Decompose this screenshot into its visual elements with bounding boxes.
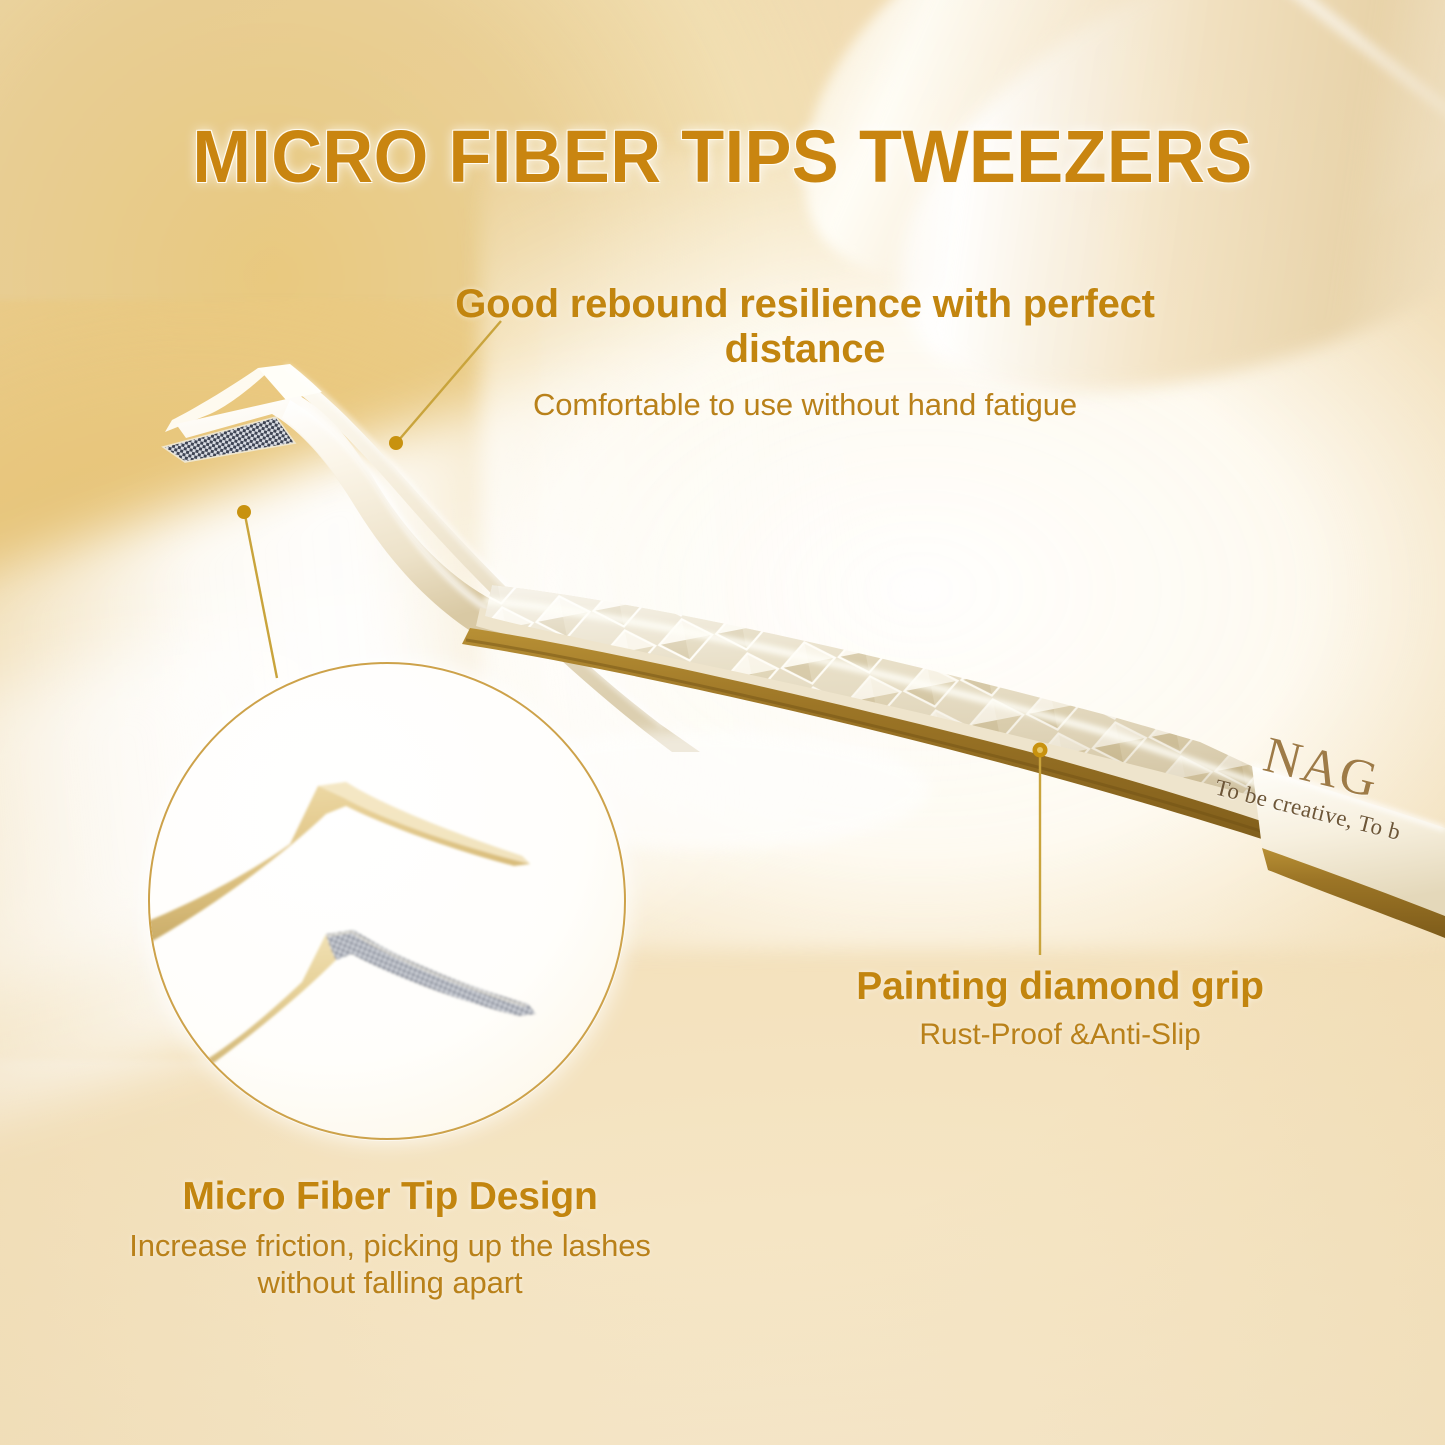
callout-grip-subtext: Rust-Proof &Anti-Slip bbox=[770, 1017, 1350, 1054]
callout-grip-heading: Painting diamond grip bbox=[770, 965, 1350, 1009]
magnifier-circle-icon bbox=[148, 662, 626, 1140]
page-title: MICRO FIBER TIPS TWEEZERS bbox=[36, 114, 1409, 199]
infographic-canvas: NAG To be creative, To b MICRO FIBER TIP… bbox=[0, 0, 1445, 1445]
callout-fiber-heading: Micro Fiber Tip Design bbox=[60, 1175, 720, 1219]
callout-rebound-subtext: Comfortable to use without hand fatigue bbox=[455, 386, 1155, 424]
callout-fiber-subtext-line2: without falling apart bbox=[60, 1264, 720, 1302]
callout-micro-fiber-tip: Micro Fiber Tip Design Increase friction… bbox=[60, 1175, 720, 1302]
callout-rebound-heading: Good rebound resilience with perfect dis… bbox=[455, 282, 1155, 372]
tweezer-tip-icon bbox=[150, 782, 530, 948]
callout-diamond-grip: Painting diamond grip Rust-Proof &Anti-S… bbox=[770, 965, 1350, 1053]
callout-rebound: Good rebound resilience with perfect dis… bbox=[455, 282, 1155, 423]
callout-fiber-subtext-line1: Increase friction, picking up the lashes bbox=[60, 1227, 720, 1265]
micro-fiber-tip-icon bbox=[160, 930, 536, 1092]
